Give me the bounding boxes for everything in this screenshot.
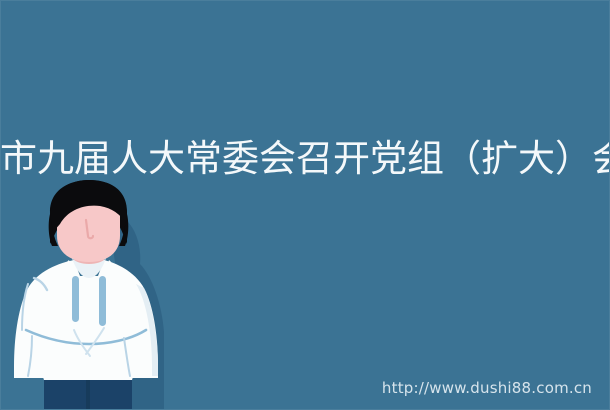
drawstring-left (72, 276, 79, 322)
drawstring-right (99, 276, 106, 326)
illustration-person-in-white-hoodie (0, 180, 200, 410)
site-watermark: http://www.dushi88.com.cn (382, 379, 592, 397)
page-title: 市九届人大常委会召开党组（扩大）会议 (0, 136, 610, 182)
thumbnail-canvas: 市九届人大常委会召开党组（扩大）会议 http://www.dushi88.co… (0, 0, 610, 410)
